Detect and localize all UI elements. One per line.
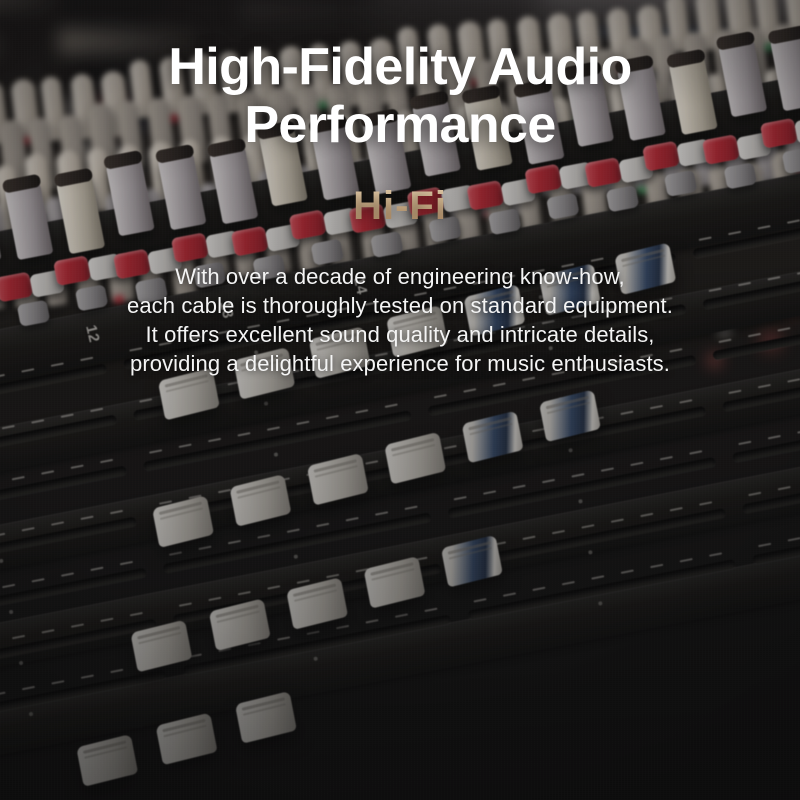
description-line-1: With over a decade of engineering know-h… (127, 262, 673, 291)
page-title: High-Fidelity Audio Performance (90, 38, 710, 154)
description-paragraph: With over a decade of engineering know-h… (127, 262, 673, 378)
hifi-promo-banner: 11121314 High-Fidelity Audio Performance… (0, 0, 800, 800)
description-line-2: each cable is thoroughly tested on stand… (127, 291, 673, 320)
headline-line-2: Performance (244, 96, 555, 154)
description-line-3: It offers excellent sound quality and in… (127, 320, 673, 349)
hifi-subtitle: Hi-Fi (353, 186, 447, 226)
banner-content: High-Fidelity Audio Performance Hi-Fi Wi… (0, 0, 800, 800)
description-line-4: providing a delightful experience for mu… (127, 349, 673, 378)
headline-line-1: High-Fidelity Audio (168, 38, 631, 96)
